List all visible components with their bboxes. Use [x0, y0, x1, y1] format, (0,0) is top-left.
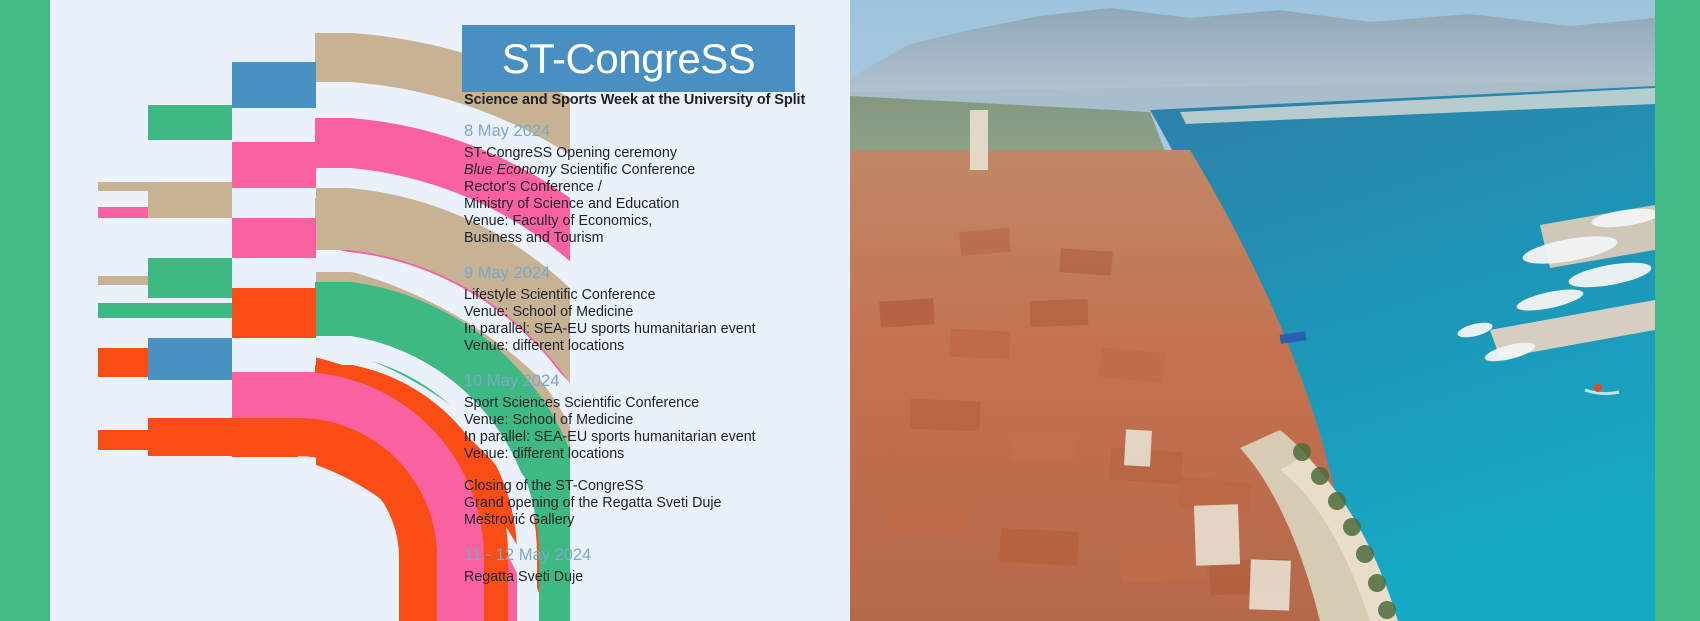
- schedule-line: ST-CongreSS Opening ceremony: [464, 145, 850, 162]
- schedule-line: In parallel: SEA-EU sports humanitarian …: [464, 321, 850, 338]
- schedule-line-emphasis: Blue Economy: [464, 162, 556, 178]
- left-content-panel: ST-CongreSS Science and Sports Week at t…: [50, 0, 850, 621]
- schedule-line: Regatta Sveti Duje: [464, 569, 850, 586]
- page-title: ST-CongreSS: [502, 38, 756, 80]
- schedule-date: 8 May 2024: [464, 120, 850, 144]
- schedule-line: Venue: different locations: [464, 338, 850, 355]
- schedule-line: Venue: School of Medicine: [464, 412, 850, 429]
- schedule-list: 8 May 2024ST-CongreSS Opening ceremonyBl…: [464, 120, 850, 586]
- schedule-block: Closing of the ST-CongreSSGrand opening …: [464, 478, 850, 529]
- split-aerial-photo: [850, 0, 1655, 621]
- schedule-date: 9 May 2024: [464, 262, 850, 286]
- schedule-line: Lifestyle Scientific Conference: [464, 287, 850, 304]
- schedule-block: 10 May 2024Sport Sciences Scientific Con…: [464, 370, 850, 463]
- schedule-line: Venue: different locations: [464, 446, 850, 463]
- schedule-line: Grand opening of the Regatta Sveti Duje: [464, 495, 850, 512]
- left-edge-band: [0, 0, 50, 621]
- schedule-line-rest: Scientific Conference: [556, 162, 695, 178]
- schedule-line: Sport Sciences Scientific Conference: [464, 395, 850, 412]
- schedule-line: Rector's Conference /: [464, 179, 850, 196]
- photo-svg: [850, 0, 1655, 621]
- schedule-date: 11 - 12 May 2024: [464, 544, 850, 568]
- schedule-line: Meštrović Gallery: [464, 512, 850, 529]
- schedule-block: 9 May 2024Lifestyle Scientific Conferenc…: [464, 262, 850, 355]
- subtitle: Science and Sports Week at the Universit…: [464, 92, 805, 108]
- schedule-line: Blue Economy Scientific Conference: [464, 162, 850, 179]
- right-edge-band: [1655, 0, 1700, 621]
- schedule-line: Business and Tourism: [464, 230, 850, 247]
- text-column: ST-CongreSS Science and Sports Week at t…: [462, 0, 850, 621]
- poster-root: ST-CongreSS Science and Sports Week at t…: [0, 0, 1700, 621]
- title-bar: ST-CongreSS: [462, 25, 795, 92]
- schedule-block: 8 May 2024ST-CongreSS Opening ceremonyBl…: [464, 120, 850, 247]
- schedule-line: Ministry of Science and Education: [464, 196, 850, 213]
- schedule-line: Venue: School of Medicine: [464, 304, 850, 321]
- schedule-block: 11 - 12 May 2024Regatta Sveti Duje: [464, 544, 850, 586]
- schedule-line: In parallel: SEA-EU sports humanitarian …: [464, 429, 850, 446]
- schedule-line: Closing of the ST-CongreSS: [464, 478, 850, 495]
- schedule-date: 10 May 2024: [464, 370, 850, 394]
- schedule-line: Venue: Faculty of Economics,: [464, 213, 850, 230]
